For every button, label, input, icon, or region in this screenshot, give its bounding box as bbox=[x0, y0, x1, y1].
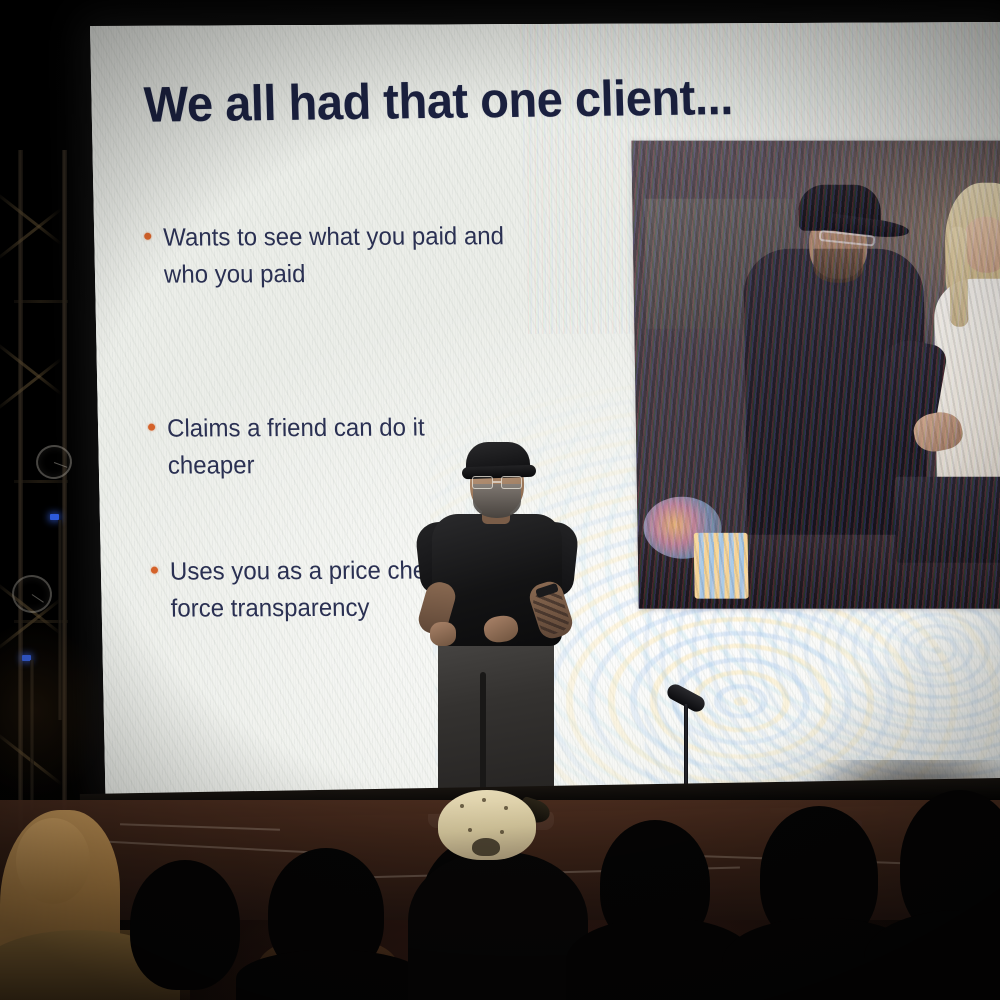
slide-photo-panel bbox=[631, 141, 1000, 609]
slide-title: We all had that one client... bbox=[143, 68, 733, 134]
truss-brace bbox=[0, 340, 63, 395]
audience-member-head bbox=[130, 860, 240, 990]
photo-man-beard bbox=[813, 249, 864, 283]
list-item: Wants to see what you paid and who you p… bbox=[144, 218, 566, 293]
photo-laptop bbox=[895, 477, 1000, 563]
audience-member-blonde-head bbox=[16, 818, 90, 904]
presentation-photo: We all had that one client... Wants to s… bbox=[0, 0, 1000, 1000]
speaker-glasses-icon bbox=[472, 476, 522, 489]
bullet-dot-icon bbox=[148, 424, 155, 431]
photo-vase bbox=[694, 533, 749, 599]
photo-woman-hair-strand bbox=[949, 227, 969, 327]
truss-rung bbox=[14, 300, 68, 303]
audience-member-body bbox=[236, 950, 426, 1000]
speaker-hand-left bbox=[430, 622, 456, 646]
bullet-dot-icon bbox=[151, 567, 158, 574]
photo-woman-face bbox=[963, 217, 1000, 273]
truss-rung bbox=[14, 480, 68, 483]
audience-member-capped-body bbox=[408, 852, 588, 1000]
speaker-beard bbox=[473, 484, 521, 518]
bullet-dot-icon bbox=[144, 233, 151, 240]
bullet-text: Wants to see what you paid and who you p… bbox=[163, 218, 510, 292]
audience-cap-back-opening bbox=[472, 838, 500, 856]
truss-brace bbox=[0, 190, 63, 245]
